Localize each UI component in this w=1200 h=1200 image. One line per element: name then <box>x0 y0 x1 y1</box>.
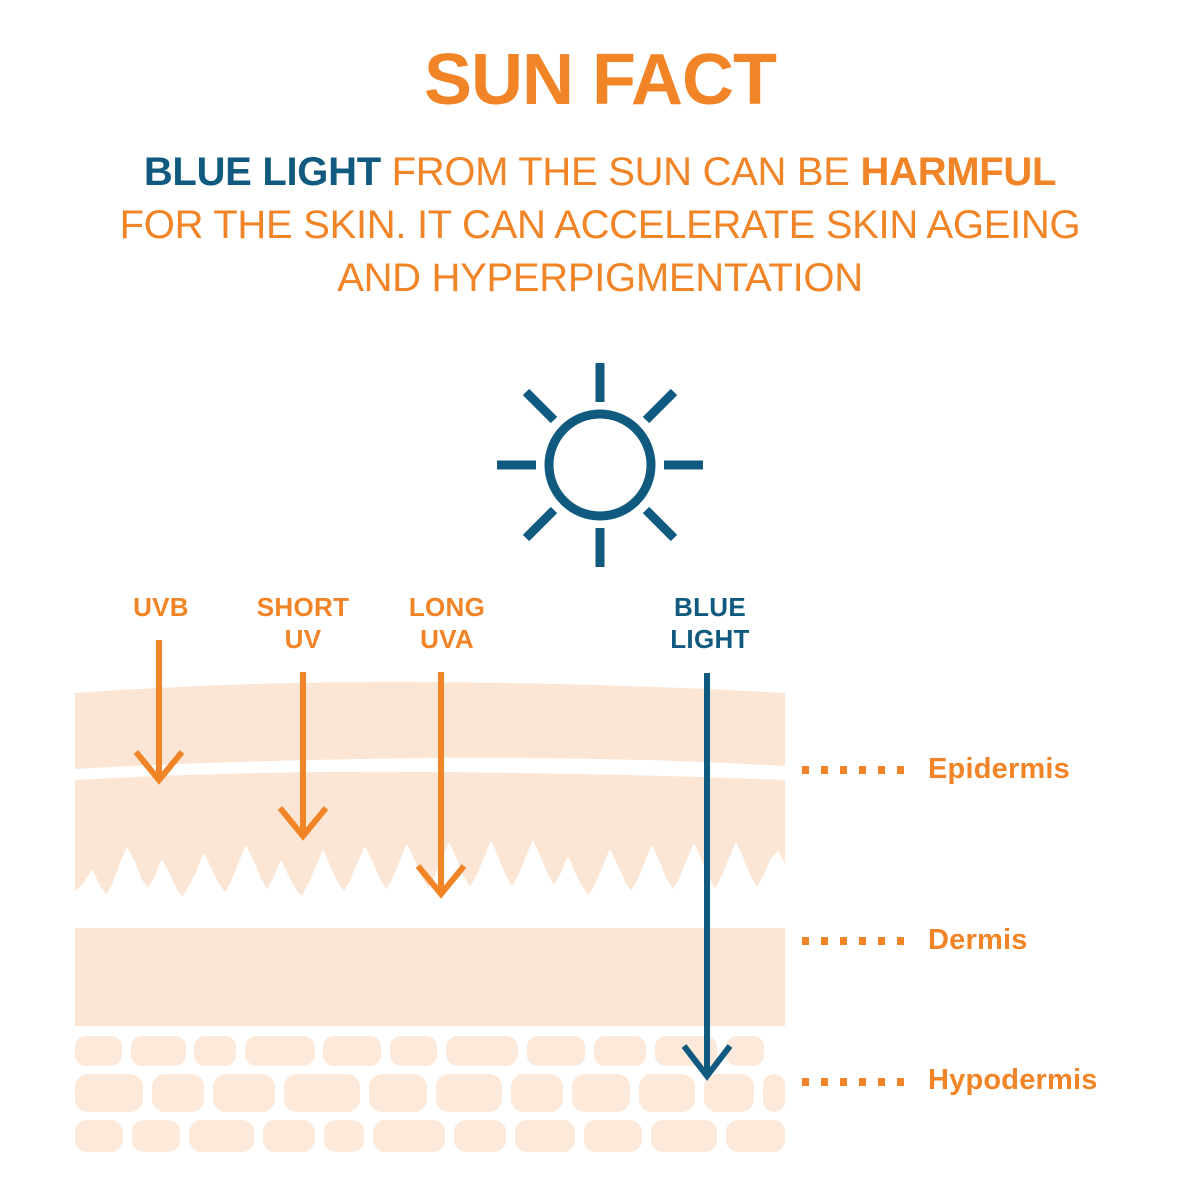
hypodermis-layer <box>75 1036 785 1152</box>
skin-cross-section-diagram <box>0 0 1200 1200</box>
layer-label-epidermis: Epidermis <box>928 753 1070 786</box>
sun-fact-infographic: SUN FACT BLUE LIGHT FROM THE SUN CAN BE … <box>0 0 1200 1200</box>
layer-label-hypodermis: Hypodermis <box>928 1064 1098 1097</box>
dermis-lower-fill <box>75 928 785 1026</box>
layer-label-dermis: Dermis <box>928 924 1028 957</box>
